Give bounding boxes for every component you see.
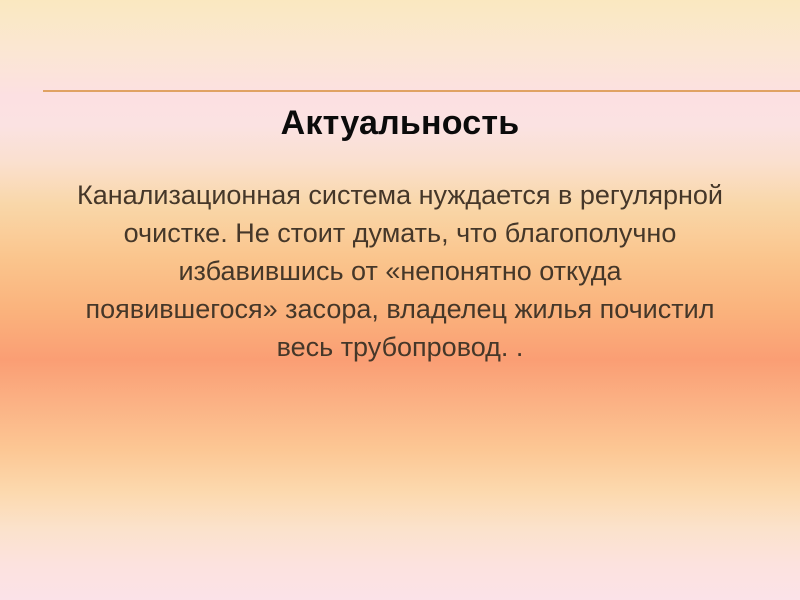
body-line: весь трубопровод. .: [12, 328, 788, 366]
body-line: избавившись от «непонятно откуда: [12, 252, 788, 290]
page-title: Актуальность: [0, 104, 800, 143]
body-line: очистке. Не стоит думать, что благополуч…: [12, 214, 788, 252]
title-divider-rule: [43, 90, 800, 92]
presentation-slide: Актуальность Канализационная система нуж…: [0, 0, 800, 600]
body-line: появившегося» засора, владелец жилья поч…: [12, 290, 788, 328]
body-line: Канализационная система нуждается в регу…: [12, 176, 788, 214]
slide-body-text: Канализационная система нуждается в регу…: [12, 176, 788, 366]
